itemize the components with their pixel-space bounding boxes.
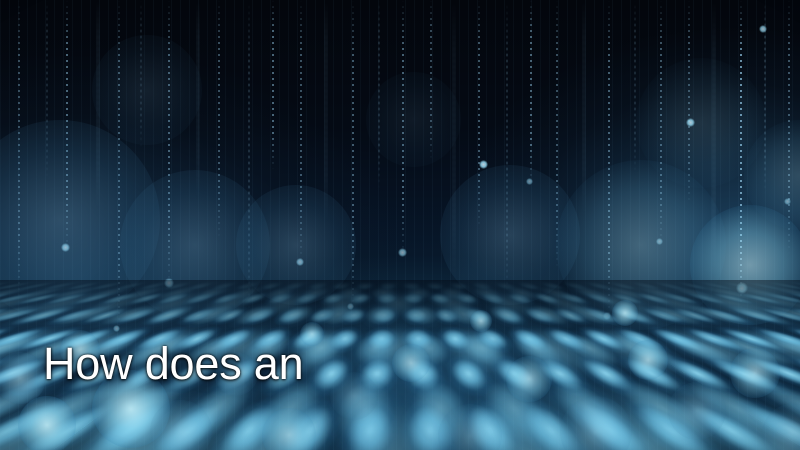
- hero-banner: How does an enterprise evolve?: [0, 0, 800, 450]
- headline-line-1: How does an: [43, 337, 420, 390]
- page-title: How does an enterprise evolve?: [43, 231, 420, 450]
